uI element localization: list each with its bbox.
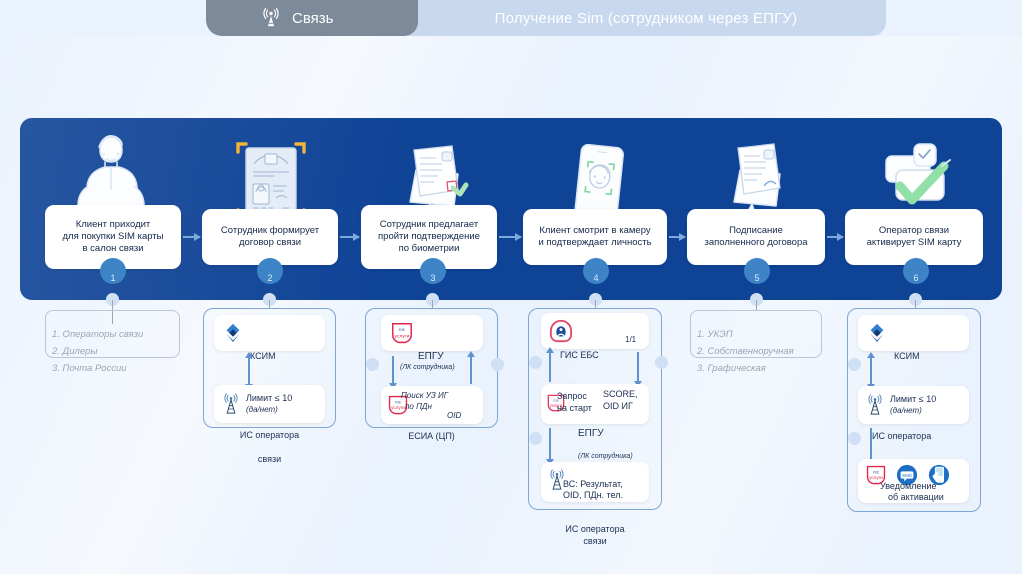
svg-text:SMS: SMS <box>902 473 912 478</box>
svg-text:гос: гос <box>873 469 879 474</box>
label-ksim-1: КСИМ <box>250 351 276 361</box>
step-number-6: 6 <box>903 258 929 284</box>
card-limit-1[interactable]: Лимит ≤ 10 (да/нет) <box>214 385 325 423</box>
side-dot-esia-right <box>491 358 504 371</box>
side-dot-op2-left-2 <box>848 432 861 445</box>
list-item: 3. Почта России <box>52 360 182 377</box>
arrow-esia-up <box>470 356 472 384</box>
svg-text:услуги: услуги <box>869 475 883 480</box>
step-box-5[interactable]: Подписаниезаполненного договора <box>687 209 825 265</box>
label-score: SCORE, <box>603 389 638 399</box>
list-item: 2. Дилеры <box>52 343 182 360</box>
connector-stem-3 <box>432 300 433 308</box>
card-ksim-1[interactable] <box>214 315 325 351</box>
arrow-epgu-vs <box>549 428 551 460</box>
label-ob-aktivacii: об активации <box>888 492 944 502</box>
card-ksim-2[interactable] <box>858 315 969 351</box>
list-item: 2. Собственноручная <box>697 343 825 360</box>
arrow-ebs-up <box>549 352 551 382</box>
caption-operator-is-2: ИС оператора <box>872 431 931 441</box>
label-poisk: Поиск УЗ ИГ <box>401 391 448 400</box>
step-number-3: 3 <box>420 258 446 284</box>
svg-text:услуги: услуги <box>391 405 405 410</box>
caption-ebs-2: связи <box>528 536 662 546</box>
card-limit-2[interactable]: Лимит ≤ 10 (да/нет) <box>858 386 969 424</box>
category-label: Связь <box>292 10 333 27</box>
signature-list: 1. УКЭП 2. Собственноручная 3. Графическ… <box>697 326 825 377</box>
label-oid-ig: OID ИГ <box>603 401 633 411</box>
card-epgu-esia[interactable]: гос услуги <box>381 315 483 351</box>
step-label-3: Сотрудник предлагаетпройти подтверждение… <box>378 219 480 255</box>
arrow-ksim-limit-1 <box>248 357 250 385</box>
arrow-epgu-down-esia <box>392 356 394 384</box>
step-number-3-text: 3 <box>430 273 435 283</box>
label-zapros: Запрос <box>557 391 587 401</box>
label-gis-ebs: ГИС ЕБС <box>560 350 599 360</box>
step-label-5: Подписаниезаполненного договора <box>704 225 807 249</box>
step-number-2: 2 <box>257 258 283 284</box>
tab-category[interactable]: Связь <box>222 0 418 36</box>
step-box-2[interactable]: Сотрудник формируетдоговор связи <box>202 209 338 265</box>
caption-operator-is-1: ИС оператора <box>203 430 336 440</box>
channels-list: 1. Операторы связи 2. Дилеры 3. Почта Ро… <box>52 326 182 377</box>
process-title-text: Получение Sim (сотрудником через ЕПГУ) <box>495 10 798 27</box>
diagram-root: Получение Sim (сотрудником через ЕПГУ) С… <box>0 0 1022 574</box>
label-lk-esia: (ЛК сотрудника) <box>400 364 455 371</box>
flow-arrow-5-6 <box>827 236 843 238</box>
label-limit-sub-1: (да/нет) <box>246 405 278 414</box>
svg-text:услуги: услуги <box>395 334 410 340</box>
label-lk-ebs: (ЛК сотрудника) <box>578 453 633 460</box>
step-number-2-text: 2 <box>267 273 272 283</box>
gosuslugi-logo-icon: гос услуги <box>389 321 415 345</box>
connector-stem-5 <box>756 300 757 310</box>
side-dot-ebs-left-2 <box>529 432 542 445</box>
step-label-6: Оператор связиактивирует SIM карту <box>867 225 962 249</box>
flow-arrow-4-5 <box>669 236 685 238</box>
antenna-tower-icon <box>221 393 241 415</box>
step-number-4-text: 4 <box>593 273 598 283</box>
svg-text:гос: гос <box>399 327 406 332</box>
header-bar: Получение Sim (сотрудником через ЕПГУ) С… <box>0 0 1022 36</box>
flow-arrow-1-2 <box>183 236 200 238</box>
step-number-5: 5 <box>744 258 770 284</box>
arrowhead-up-icon <box>546 347 554 353</box>
connector-stem-2 <box>269 300 270 308</box>
step-box-4[interactable]: Клиент смотрит в камеруи подтверждает ли… <box>523 209 667 265</box>
step-number-5-text: 5 <box>754 273 759 283</box>
label-oid-pdn: OID, ПДн. тел. <box>563 490 623 500</box>
step-label-4: Клиент смотрит в камеруи подтверждает ли… <box>538 225 651 249</box>
card-gis-ebs[interactable]: 1/1 <box>541 313 649 349</box>
step-label-2: Сотрудник формируетдоговор связи <box>221 225 319 249</box>
connector-stem-4 <box>595 300 596 308</box>
card-zapros-start[interactable]: гос услуги Запрос на старт SCORE, OID ИГ <box>541 384 649 424</box>
caption-ebs-1: ИС оператора <box>528 524 662 534</box>
side-dot-op2-left-1 <box>848 358 861 371</box>
label-epgu-ebs: ЕПГУ <box>578 428 604 439</box>
step-number-1-text: 1 <box>110 273 115 283</box>
label-limit-2: Лимит ≤ 10 <box>890 394 936 404</box>
side-dot-ebs-left-1 <box>529 356 542 369</box>
flow-arrow-2-3 <box>340 236 359 238</box>
caption-esia: ЕСИА (ЦП) <box>365 431 498 441</box>
flow-arrow-3-4 <box>499 236 521 238</box>
side-dot-esia-left <box>366 358 379 371</box>
tab-process-title[interactable]: Получение Sim (сотрудником через ЕПГУ) <box>406 0 886 36</box>
list-item: 3. Графическая <box>697 360 825 377</box>
label-poisk2: по ПДн <box>405 402 432 411</box>
label-limit-1: Лимит ≤ 10 <box>246 393 292 403</box>
card-poisk-uz[interactable]: гос услуги Поиск УЗ ИГ по ПДн OID <box>381 386 483 424</box>
card-vs-rezultat[interactable]: ВС: Результат, OID, ПДн. тел. <box>541 462 649 502</box>
side-dot-ebs-right-1 <box>655 356 668 369</box>
ksim-logo-icon <box>866 322 888 344</box>
label-ksim-2: КСИМ <box>894 351 920 361</box>
step-number-6-text: 6 <box>913 273 918 283</box>
arrowhead-up-icon <box>245 352 253 358</box>
arrow-ebs-down <box>637 352 639 382</box>
antenna-icon <box>260 7 282 29</box>
label-epgu-esia: ЕПГУ <box>418 351 444 362</box>
step-label-1: Клиент приходитдля покупки SIM картыв са… <box>63 219 164 255</box>
step-number-4: 4 <box>583 258 609 284</box>
antenna-tower-icon <box>865 394 885 416</box>
card-notification[interactable]: гос услуги SMS Уведомление об активации <box>858 459 969 503</box>
label-limit-sub-2: (да/нет) <box>890 406 922 415</box>
svg-text:гос: гос <box>395 399 401 404</box>
label-one-of-one: 1/1 <box>625 335 636 344</box>
label-oid-esia: OID <box>447 411 461 420</box>
connector-stem-6 <box>915 300 916 308</box>
label-na-start: на старт <box>557 403 592 413</box>
label-uvedomlenie: Уведомление <box>880 481 936 491</box>
arrow-ksim-limit-2 <box>870 357 872 385</box>
step-box-6[interactable]: Оператор связиактивирует SIM карту <box>845 209 983 265</box>
label-vs-rezultat: ВС: Результат, <box>563 479 623 489</box>
arrowhead-up-icon <box>467 351 475 357</box>
ksim-logo-icon <box>222 322 244 344</box>
caption-operator-is-1b: связи <box>203 454 336 464</box>
ebs-logo-icon <box>549 319 573 343</box>
arrow-limit-notify <box>870 428 872 460</box>
arrowhead-up-icon <box>867 352 875 358</box>
list-item: 1. УКЭП <box>697 326 825 343</box>
list-item: 1. Операторы связи <box>52 326 182 343</box>
step-number-1: 1 <box>100 258 126 284</box>
